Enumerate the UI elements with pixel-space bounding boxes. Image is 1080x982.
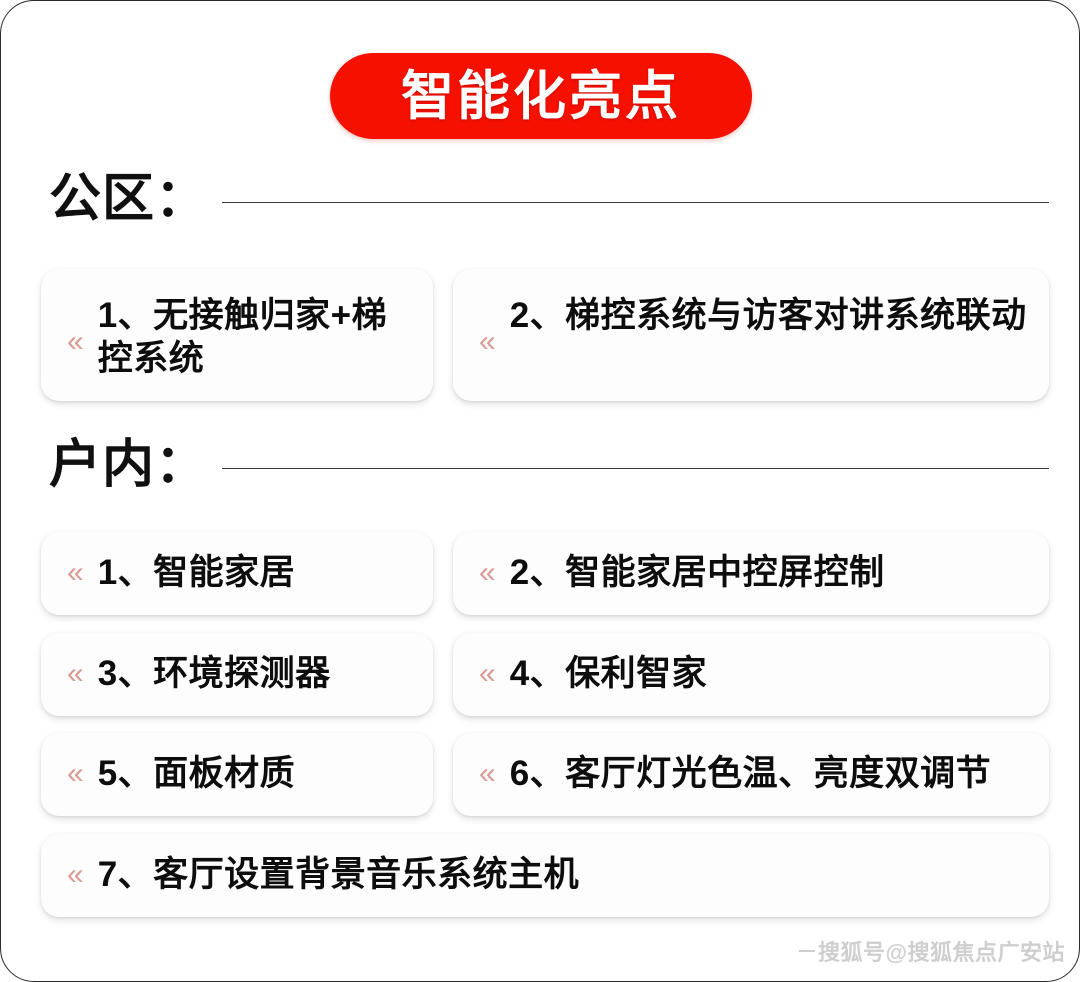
list-item[interactable]: « 2、梯控系统与访客对讲系统联动 [453,269,1049,401]
watermark-dash-icon [799,950,815,952]
title-row: 智能化亮点 [1,53,1080,139]
page-title-badge: 智能化亮点 [330,53,752,139]
list-item[interactable]: « 5、面板材质 [41,733,433,816]
chevron-left-double-icon: « [67,327,84,357]
list-item-label: 3、环境探测器 [98,653,331,696]
watermark: 搜狐号@搜狐焦点广安站 [799,935,1065,967]
section-label-indoor: 户内： [49,439,208,491]
watermark-text: 搜狐号@搜狐焦点广安站 [818,935,1065,967]
list-item[interactable]: « 4、保利智家 [453,633,1049,716]
chevron-left-double-icon: « [67,860,84,890]
chevron-left-double-icon: « [479,327,496,357]
list-item[interactable]: « 7、客厅设置背景音乐系统主机 [41,834,1049,917]
chevron-left-double-icon: « [67,558,84,588]
section-divider-indoor [222,468,1049,469]
list-item-label: 2、智能家居中控屏控制 [510,552,885,595]
list-item[interactable]: « 2、智能家居中控屏控制 [453,532,1049,615]
list-item-label: 6、客厅灯光色温、亮度双调节 [510,753,991,796]
chevron-left-double-icon: « [479,659,496,689]
section-header-indoor: 户内： [49,439,1049,491]
chevron-left-double-icon: « [479,759,496,789]
section-divider-public [222,202,1049,203]
section-label-public: 公区： [49,173,208,225]
list-item-label: 7、客厅设置背景音乐系统主机 [98,854,579,897]
list-item-label: 4、保利智家 [510,653,707,696]
list-item[interactable]: « 1、无接触归家+梯控系统 [41,269,433,401]
list-item-label: 2、梯控系统与访客对讲系统联动 [510,295,1027,338]
list-item-label: 5、面板材质 [98,753,295,796]
list-item-label: 1、智能家居 [98,552,295,595]
list-item[interactable]: « 6、客厅灯光色温、亮度双调节 [453,733,1049,816]
page-frame: 智能化亮点 公区： « 1、无接触归家+梯控系统 « 2、梯控系统与访客对讲系统… [0,0,1080,982]
list-item[interactable]: « 1、智能家居 [41,532,433,615]
list-item[interactable]: « 3、环境探测器 [41,633,433,716]
list-item-label: 1、无接触归家+梯控系统 [98,295,419,380]
chevron-left-double-icon: « [67,759,84,789]
section-header-public: 公区： [49,173,1049,225]
page-title: 智能化亮点 [401,70,681,123]
chevron-left-double-icon: « [67,659,84,689]
chevron-left-double-icon: « [479,558,496,588]
